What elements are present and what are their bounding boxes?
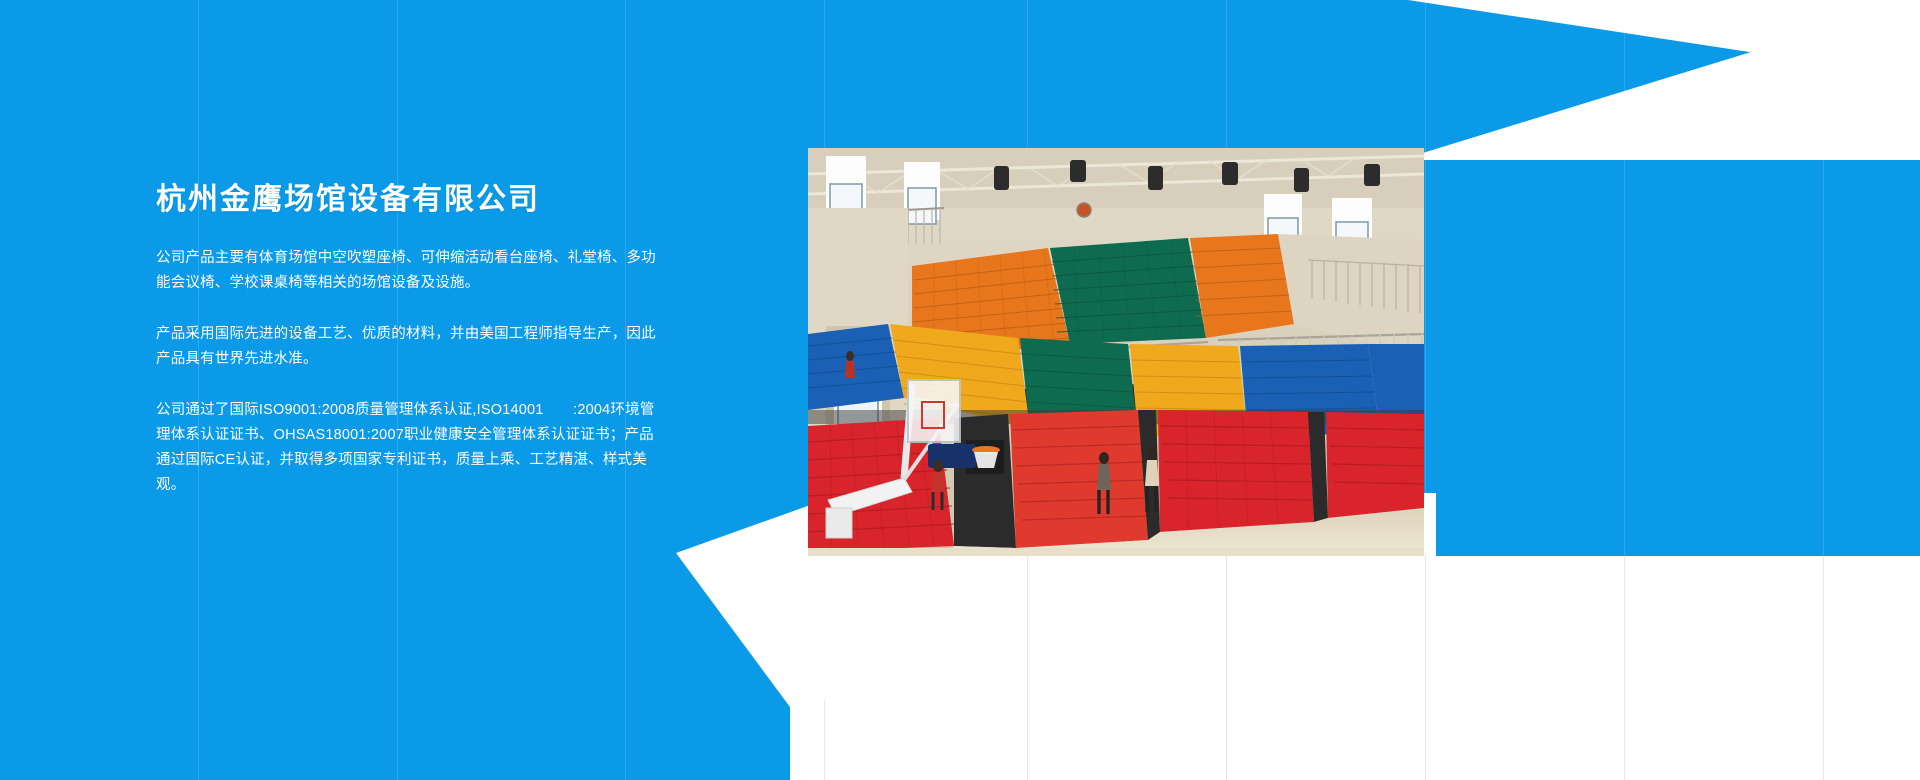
company-title: 杭州金鹰场馆设备有限公司	[156, 182, 666, 218]
banner-stage: 杭州金鹰场馆设备有限公司 公司产品主要有体育场馆中空吹塑座椅、可伸缩活动看台座椅…	[0, 0, 1920, 780]
paragraph-technology: 产品采用国际先进的设备工艺、优质的材料，并由美国工程师指导生产，因此产品具有世界…	[156, 322, 666, 372]
arena-photo-illustration	[808, 148, 1424, 556]
arena-photo	[808, 148, 1424, 556]
paragraph-products: 公司产品主要有体育场馆中空吹塑座椅、可伸缩活动看台座椅、礼堂椅、多功能会议椅、学…	[156, 246, 666, 296]
paragraph-certifications: 公司通过了国际ISO9001:2008质量管理体系认证,ISO14001 :20…	[156, 398, 666, 498]
banner-text-column: 杭州金鹰场馆设备有限公司 公司产品主要有体育场馆中空吹塑座椅、可伸缩活动看台座椅…	[156, 182, 666, 498]
